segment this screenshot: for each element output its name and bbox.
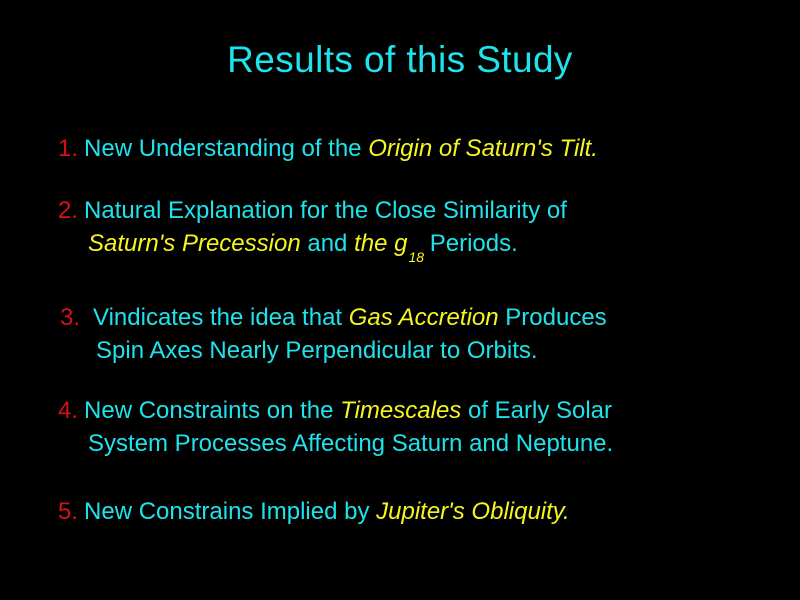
page-title: Results of this Study (0, 38, 800, 82)
bullet-text-segment: New Understanding of the (84, 135, 368, 162)
bullet-line-continuation: Spin Axes Nearly Perpendicular to Orbits… (60, 334, 607, 367)
bullet-text-segment: Spin Axes Nearly Perpendicular to Orbits… (96, 337, 538, 364)
list-item: 2.Natural Explanation for the Close Simi… (58, 194, 567, 269)
list-item: 3.Vindicates the idea that Gas Accretion… (60, 301, 607, 367)
bullet-line-primary: 5.New Constrains Implied by Jupiter's Ob… (58, 495, 570, 528)
list-item-number: 3. (60, 304, 80, 331)
bullet-text-segment: System Processes Affecting Saturn and Ne… (88, 430, 613, 457)
bullet-emphasis-segment-2: the g (354, 230, 407, 257)
bullet-emphasis-segment: Gas Accretion (349, 304, 499, 331)
bullet-text-segment: Vindicates the idea that (93, 304, 349, 331)
bullet-text-segment: New Constrains Implied by (84, 498, 376, 525)
bullet-line-continuation: System Processes Affecting Saturn and Ne… (58, 427, 613, 460)
bullet-text-tail: Periods. (423, 230, 518, 257)
bullet-line-primary: 3.Vindicates the idea that Gas Accretion… (60, 301, 607, 334)
bullet-text-tail: Produces (499, 304, 607, 331)
bullet-text-segment: New Constraints on the (84, 397, 340, 424)
bullet-emphasis-segment: Origin of Saturn's Tilt. (368, 135, 598, 162)
list-item: 5.New Constrains Implied by Jupiter's Ob… (58, 495, 570, 528)
list-item-number: 2. (58, 197, 78, 224)
bullet-text-tail: of Early Solar (461, 397, 612, 424)
bullet-line-primary: 1.New Understanding of the Origin of Sat… (58, 132, 598, 165)
bullet-text-segment: Natural Explanation for the Close Simila… (84, 197, 567, 224)
bullet-line-primary: 2.Natural Explanation for the Close Simi… (58, 194, 567, 227)
bullet-text-segment: and (301, 230, 354, 257)
bullet-line-continuation: Saturn's Precession and the g18 Periods. (58, 227, 567, 269)
bullet-emphasis-segment: Jupiter's Obliquity. (376, 498, 570, 525)
list-item: 4.New Constraints on the Timescales of E… (58, 394, 613, 460)
presentation-slide: Results of this Study 1.New Understandin… (0, 0, 800, 600)
subscript-18: 18 (408, 249, 424, 265)
bullet-emphasis-segment: Timescales (340, 397, 461, 424)
list-item: 1.New Understanding of the Origin of Sat… (58, 132, 598, 165)
bullet-line-primary: 4.New Constraints on the Timescales of E… (58, 394, 613, 427)
list-item-number: 1. (58, 135, 78, 162)
list-item-number: 5. (58, 498, 78, 525)
bullet-emphasis-segment: Saturn's Precession (88, 230, 301, 257)
list-item-number: 4. (58, 397, 78, 424)
